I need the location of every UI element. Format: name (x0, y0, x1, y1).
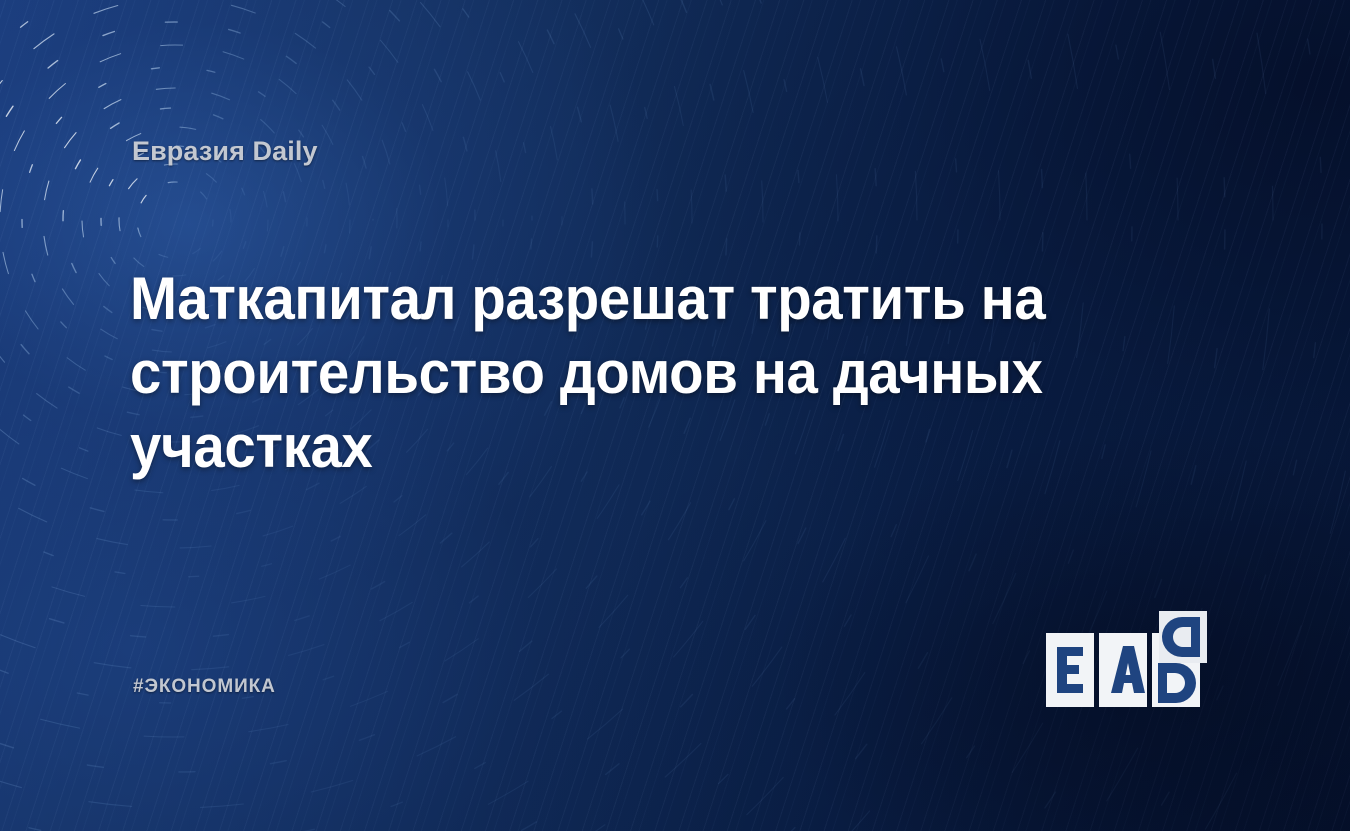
eadaily-logo (1046, 611, 1240, 713)
topic-hashtag: #ЭКОНОМИКА (133, 676, 276, 698)
news-share-card: Евразия Daily Маткапитал разрешат тратит… (0, 0, 1350, 831)
page-title: Маткапитал разрешат тратить на строитель… (130, 262, 1061, 484)
brand-name: Евразия Daily (132, 136, 318, 167)
